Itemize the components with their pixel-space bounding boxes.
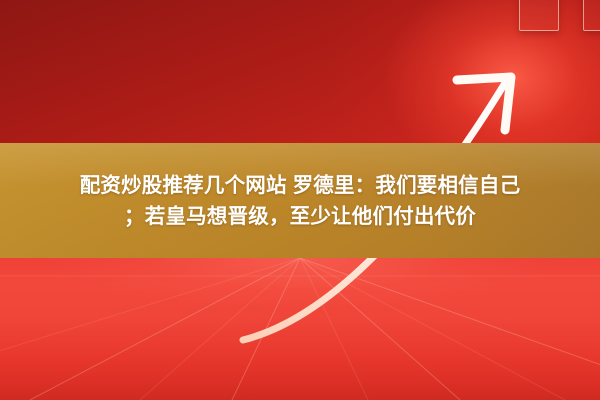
- caption-line-1: 配资炒股推荐几个网站 罗德里：我们要相信自己: [80, 174, 521, 197]
- caption-line-2: ；若皇马想晋级，至少让他们付出代价: [124, 205, 476, 228]
- banner-image: 配资炒股推荐几个网站 罗德里：我们要相信自己 ；若皇马想晋级，至少让他们付出代价: [0, 0, 600, 400]
- caption-text: 配资炒股推荐几个网站 罗德里：我们要相信自己 ；若皇马想晋级，至少让他们付出代价: [17, 170, 583, 232]
- caption-band: 配资炒股推荐几个网站 罗德里：我们要相信自己 ；若皇马想晋级，至少让他们付出代价: [0, 143, 600, 258]
